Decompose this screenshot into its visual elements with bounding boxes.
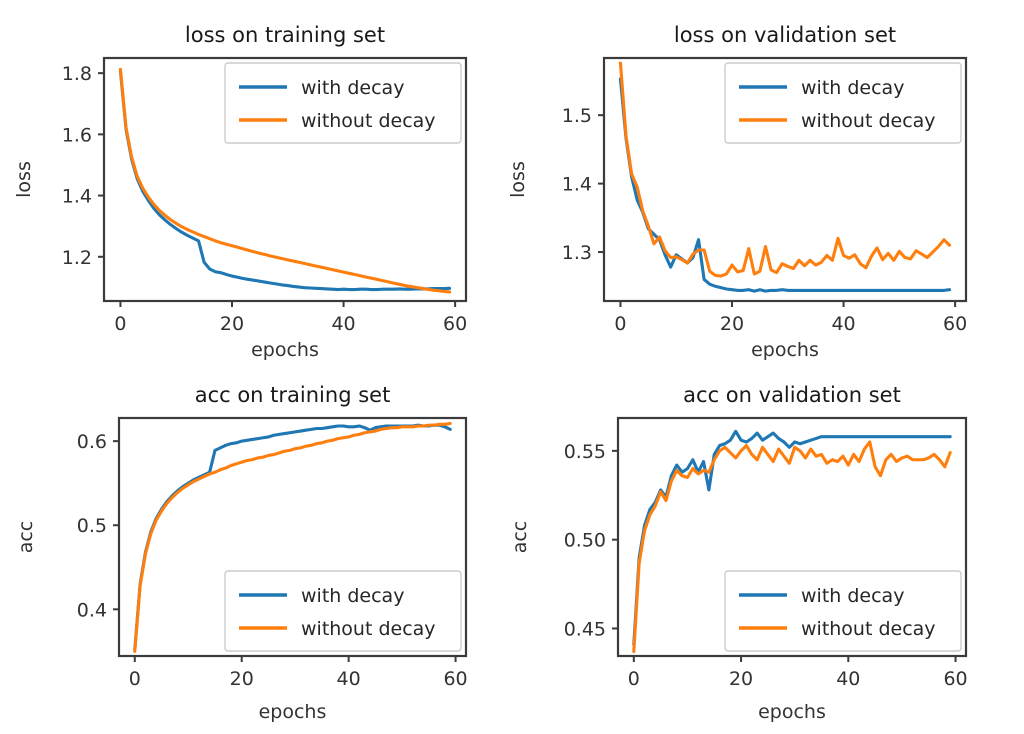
- x-tick-label: 40: [836, 668, 860, 690]
- x-axis-label: epochs: [751, 339, 819, 361]
- panel-acc-validation: acc on validation set02040600.450.500.55…: [496, 360, 1024, 734]
- y-tick-label: 1.3: [562, 242, 592, 264]
- chart-title: acc on validation set: [683, 383, 901, 407]
- x-tick-label: 60: [943, 668, 967, 690]
- x-tick-label: 40: [331, 313, 355, 335]
- legend-label-1: without decay: [801, 110, 936, 132]
- y-tick-label: 1.4: [562, 174, 592, 196]
- x-tick-label: 40: [337, 668, 361, 690]
- y-axis-label: loss: [13, 161, 35, 198]
- x-axis-label: epochs: [259, 701, 327, 723]
- y-tick-label: 0.50: [564, 530, 606, 552]
- y-tick-label: 0.55: [564, 441, 606, 463]
- legend[interactable]: with decaywithout decay: [725, 63, 961, 143]
- panel-acc-training: acc on training set02040600.40.50.6epoch…: [0, 360, 512, 734]
- x-tick-label: 20: [220, 313, 244, 335]
- y-tick-label: 0.4: [77, 599, 107, 621]
- chart-title: loss on validation set: [674, 23, 896, 47]
- x-tick-label: 0: [628, 668, 640, 690]
- chart-loss-training[interactable]: loss on training set02040601.21.41.61.8e…: [0, 0, 512, 367]
- legend-label-1: without decay: [301, 618, 436, 640]
- legend-label-0: with decay: [801, 585, 904, 607]
- x-tick-label: 20: [720, 313, 744, 335]
- y-tick-label: 1.8: [62, 63, 92, 85]
- x-tick-label: 20: [230, 668, 254, 690]
- chart-loss-validation[interactable]: loss on validation set02040601.31.41.5ep…: [496, 0, 1024, 367]
- x-tick-label: 0: [614, 313, 626, 335]
- panel-loss-validation: loss on validation set02040601.31.41.5ep…: [496, 0, 1024, 367]
- chart-title: loss on training set: [185, 23, 385, 47]
- chart-acc-training[interactable]: acc on training set02040600.40.50.6epoch…: [0, 360, 512, 734]
- x-tick-label: 0: [114, 313, 126, 335]
- legend[interactable]: with decaywithout decay: [225, 571, 461, 651]
- legend-label-1: without decay: [301, 110, 436, 132]
- legend-label-0: with decay: [301, 585, 404, 607]
- x-tick-label: 60: [443, 313, 467, 335]
- x-axis-label: epochs: [758, 701, 826, 723]
- x-tick-label: 20: [729, 668, 753, 690]
- legend-label-0: with decay: [801, 77, 904, 99]
- legend-label-0: with decay: [301, 77, 404, 99]
- y-axis-label: acc: [15, 521, 37, 554]
- legend-label-1: without decay: [801, 618, 936, 640]
- legend[interactable]: with decaywithout decay: [225, 63, 461, 143]
- y-tick-label: 0.5: [77, 515, 107, 537]
- chart-acc-validation[interactable]: acc on validation set02040600.450.500.55…: [496, 360, 1024, 734]
- y-tick-label: 0.45: [564, 618, 606, 640]
- y-tick-label: 1.4: [62, 186, 92, 208]
- y-axis-label: loss: [507, 161, 529, 198]
- x-tick-label: 40: [831, 313, 855, 335]
- x-axis-label: epochs: [251, 339, 319, 361]
- x-tick-label: 0: [129, 668, 141, 690]
- y-tick-label: 0.6: [77, 431, 107, 453]
- y-axis-label: acc: [509, 521, 531, 554]
- panel-loss-training: loss on training set02040601.21.41.61.8e…: [0, 0, 512, 367]
- y-tick-label: 1.5: [562, 105, 592, 127]
- x-tick-label: 60: [443, 668, 467, 690]
- legend[interactable]: with decaywithout decay: [725, 571, 961, 651]
- y-tick-label: 1.6: [62, 124, 92, 146]
- y-tick-label: 1.2: [62, 247, 92, 269]
- figure-canvas: loss on training set02040601.21.41.61.8e…: [0, 0, 1024, 734]
- x-tick-label: 60: [943, 313, 967, 335]
- chart-title: acc on training set: [195, 383, 391, 407]
